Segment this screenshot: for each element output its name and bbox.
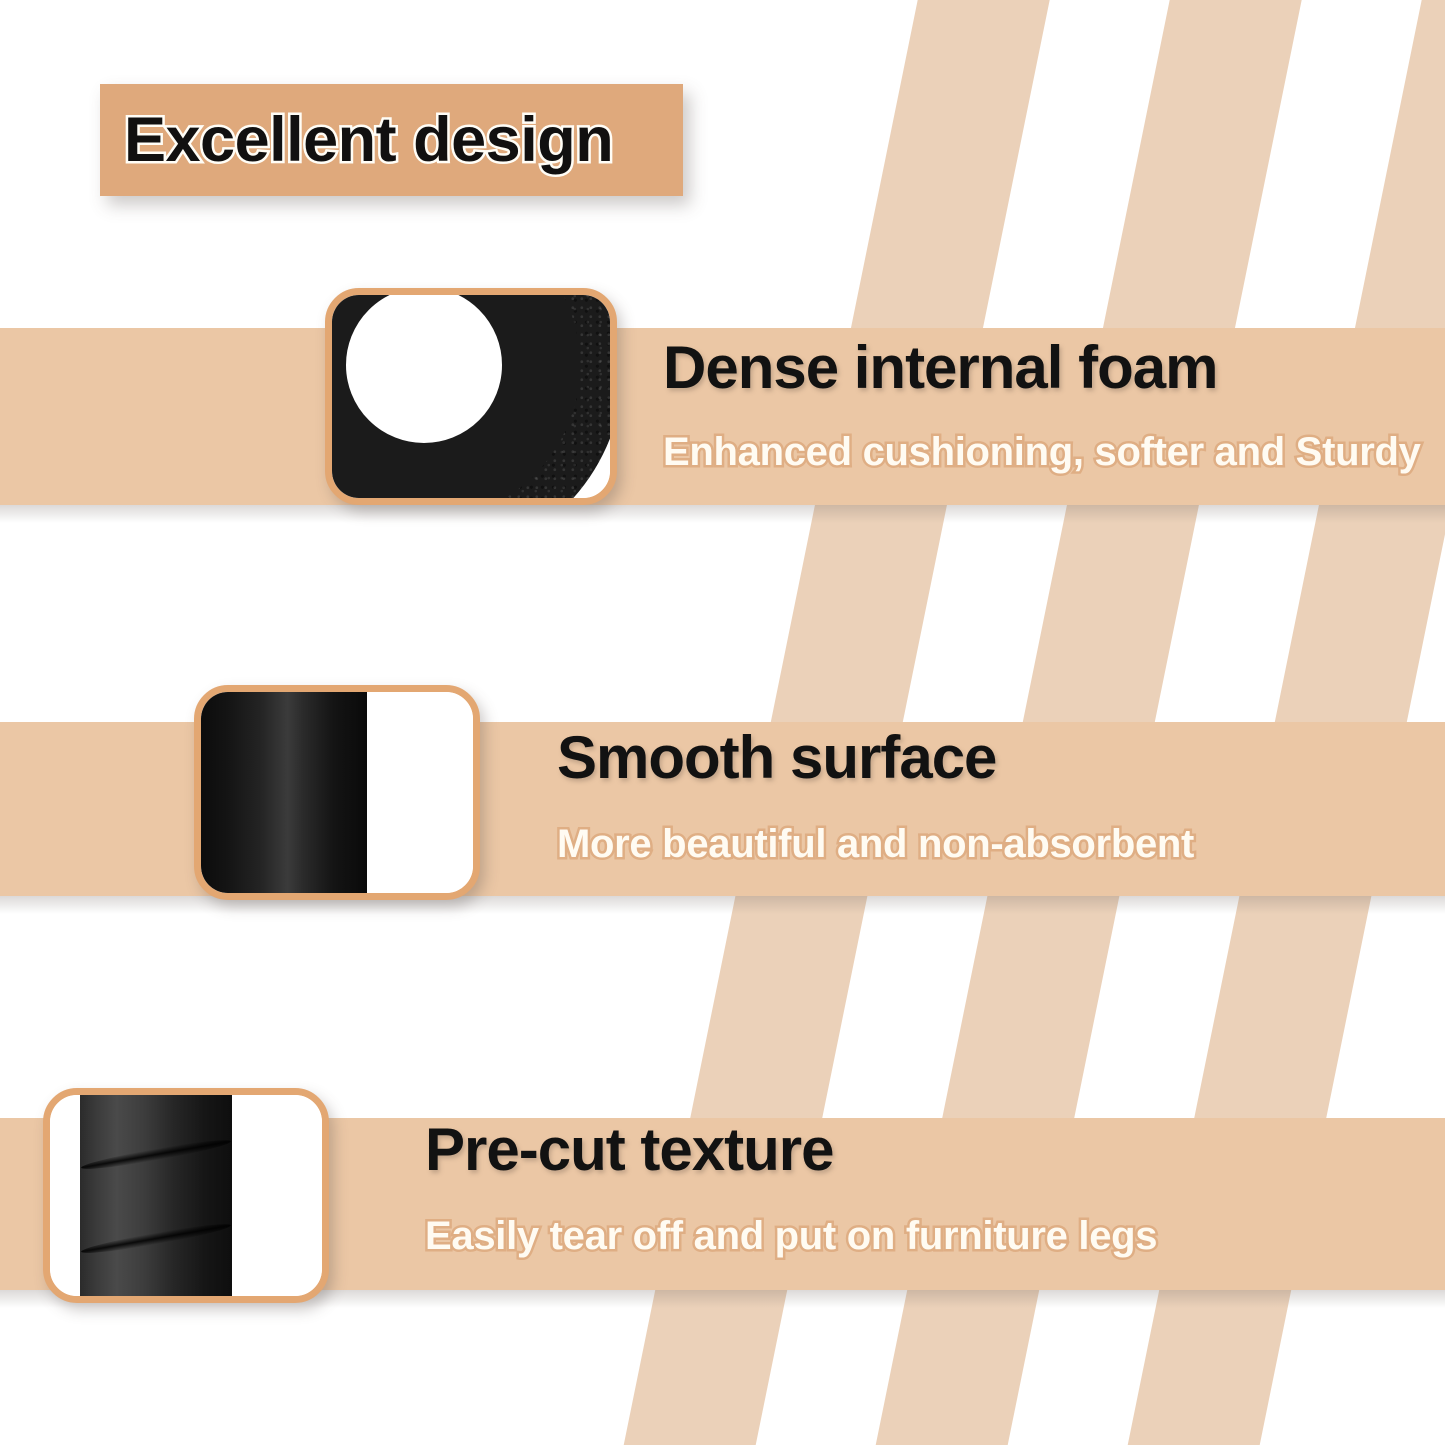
feature-text-3: Pre-cut texture Easily tear off and put … [425, 1120, 1157, 1256]
feature-text-2: Smooth surface More beautiful and non-ab… [557, 728, 1194, 864]
feature-title-1: Dense internal foam [663, 338, 1421, 398]
feature-subtitle-3: Easily tear off and put on furniture leg… [425, 1216, 1157, 1256]
precut-roll-photo [50, 1095, 322, 1296]
feature-subtitle-1: Enhanced cushioning, softer and Sturdy [663, 432, 1421, 472]
title-banner: Excellent design [100, 84, 683, 196]
foam-corner-illustration [332, 295, 610, 498]
feature-title-3: Pre-cut texture [425, 1120, 1157, 1180]
smooth-cylinder-illustration [201, 692, 367, 893]
feature-image-card-2 [194, 685, 480, 900]
feature-image-card-3 [43, 1088, 329, 1303]
feature-text-1: Dense internal foam Enhanced cushioning,… [663, 338, 1421, 472]
feature-image-card-1 [325, 288, 617, 505]
foam-corner-photo [332, 295, 610, 498]
foam-grain-texture [332, 295, 610, 498]
precut-roll-illustration [80, 1095, 232, 1296]
precut-line [80, 1136, 232, 1173]
infographic-canvas: Excellent design Dense internal foam Enh… [0, 0, 1445, 1445]
smooth-surface-photo [201, 692, 473, 893]
feature-title-2: Smooth surface [557, 728, 1194, 788]
precut-line [80, 1220, 232, 1257]
feature-subtitle-2: More beautiful and non-absorbent [557, 824, 1194, 864]
page-title: Excellent design [124, 109, 613, 172]
